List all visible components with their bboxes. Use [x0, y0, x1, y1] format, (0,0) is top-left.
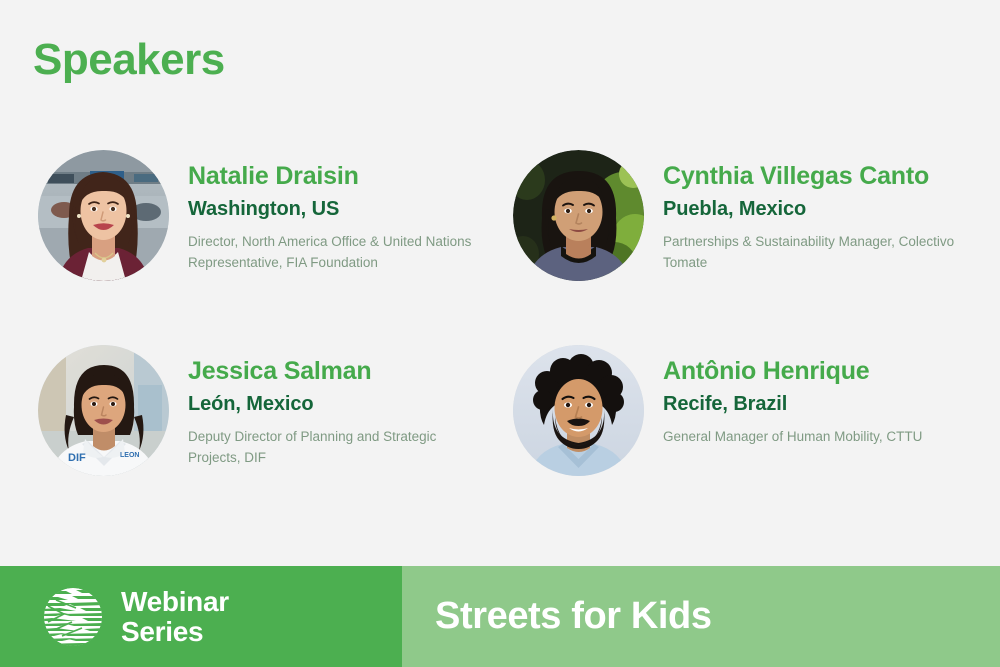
footer-headline-panel: Streets for Kids	[402, 566, 1000, 667]
speaker-role: Partnerships & Sustainability Manager, C…	[663, 231, 963, 275]
speaker-name: Antônio Henrique	[663, 357, 922, 386]
speaker-location: Washington, US	[188, 196, 488, 222]
speaker-name: Jessica Salman	[188, 357, 488, 386]
footer-bar: Webinar Series Streets for Kids	[0, 566, 1000, 667]
footer-brand-panel: Webinar Series	[0, 566, 402, 667]
avatar	[513, 345, 644, 476]
avatar	[513, 150, 644, 281]
footer-headline: Streets for Kids	[435, 595, 712, 638]
brand-line-1: Webinar	[121, 587, 229, 617]
speaker-role: Deputy Director of Planning and Strategi…	[188, 426, 488, 470]
avatar	[38, 150, 169, 281]
speaker-text: Antônio Henrique Recife, Brazil General …	[663, 345, 922, 447]
portrait-natalie-draisin	[38, 150, 169, 281]
svg-text:DIF: DIF	[68, 452, 86, 464]
speaker-card: DIF LEON Jessica Salman León, Mexico Dep…	[38, 345, 513, 540]
speaker-location: Puebla, Mexico	[663, 196, 963, 222]
globe-striations-icon	[42, 586, 104, 648]
speaker-card: Antônio Henrique Recife, Brazil General …	[513, 345, 998, 540]
speaker-location: León, Mexico	[188, 391, 488, 417]
svg-text:LEON: LEON	[120, 452, 139, 459]
speaker-location: Recife, Brazil	[663, 391, 922, 417]
brand-wordmark: Webinar Series	[121, 587, 229, 647]
speaker-text: Natalie Draisin Washington, US Director,…	[188, 150, 488, 274]
avatar: DIF LEON	[38, 345, 169, 476]
portrait-cynthia-villegas-canto	[513, 150, 644, 281]
speaker-role: Director, North America Office & United …	[188, 231, 488, 275]
speaker-name: Cynthia Villegas Canto	[663, 162, 963, 191]
speaker-card: Cynthia Villegas Canto Puebla, Mexico Pa…	[513, 150, 998, 345]
speaker-grid: Natalie Draisin Washington, US Director,…	[0, 150, 1000, 530]
speaker-text: Jessica Salman León, Mexico Deputy Direc…	[188, 345, 488, 469]
portrait-antonio-henrique	[513, 345, 644, 476]
page-title: Speakers	[33, 36, 225, 84]
speaker-text: Cynthia Villegas Canto Puebla, Mexico Pa…	[663, 150, 963, 274]
portrait-jessica-salman: DIF LEON	[38, 345, 169, 476]
speaker-card: Natalie Draisin Washington, US Director,…	[38, 150, 513, 345]
brand-line-2: Series	[121, 617, 229, 647]
speaker-name: Natalie Draisin	[188, 162, 488, 191]
speaker-role: General Manager of Human Mobility, CTTU	[663, 426, 922, 448]
